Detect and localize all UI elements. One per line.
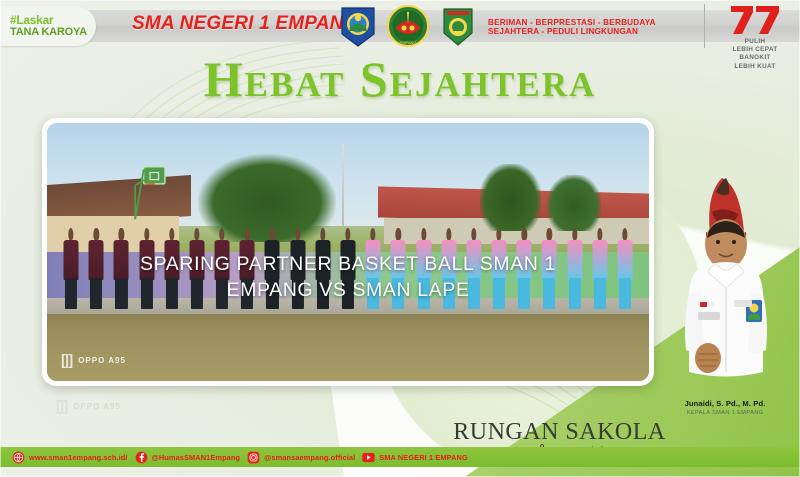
facebook-icon: [135, 451, 148, 464]
photo-foreground-ground: [47, 314, 649, 381]
camera-watermark-label: OPPO A95: [78, 356, 126, 365]
page-title: Hebat Sejahtera: [0, 50, 800, 108]
photo-caption-line-1: SPARING PARTNER BASKET BALL SMAN 1: [47, 252, 649, 278]
header-bar: #Laskar TANA KAROYA SMA NEGERI 1 EMPANG …: [0, 0, 800, 52]
header-logos: EMPANG: [336, 4, 480, 48]
footer-item-instagram[interactable]: @smansaempang.official: [247, 451, 355, 464]
motto-line-2: SEJAHTERA - PEDULI LINGKUNGAN: [488, 27, 656, 36]
camera-watermark-ghost-label: OPPO A95: [73, 402, 121, 411]
event-photo: SPARING PARTNER BASKET BALL SMAN 1 EMPAN…: [47, 123, 649, 381]
photo-tree-right-1: [480, 164, 540, 231]
camera-watermark-ghost: [|] OPPO A95: [56, 398, 121, 415]
youtube-icon: [362, 451, 375, 464]
laskar-badge: #Laskar TANA KAROYA: [0, 6, 96, 46]
footer-facebook-label: @HumasSMAN1Empang: [152, 453, 241, 462]
header-divider: [704, 4, 705, 48]
school-emblem-icon: EMPANG: [386, 4, 430, 48]
footer-item-website[interactable]: www.sman1empang.sch.id/: [12, 451, 128, 464]
rungan-sakola-title: RUNGAN SAKOLA: [452, 420, 667, 444]
footer-item-youtube[interactable]: SMA NEGERI 1 EMPANG: [362, 451, 468, 464]
seventy-seven-icon: [725, 2, 785, 36]
ntb-provincial-emblem-icon: [336, 4, 380, 48]
laskar-badge-line1: #Laskar: [10, 14, 96, 26]
oppo-logo-icon: [|]: [61, 352, 72, 369]
basketball-hoop-icon: [107, 164, 197, 221]
oppo-logo-ghost-icon: [|]: [56, 398, 67, 415]
sumbawa-regency-emblem-icon: [436, 4, 480, 48]
laskar-badge-line2: TANA KAROYA: [10, 27, 96, 38]
principal-portrait: Junaidi, S. Pd., M. Pd. KEPALA SMAN 1 EM…: [660, 172, 790, 422]
school-name: SMA NEGERI 1 EMPANG: [132, 13, 359, 35]
footer-bar: www.sman1empang.sch.id/ @HumasSMAN1Empan…: [0, 447, 800, 467]
footer-instagram-label: @smansaempang.official: [264, 453, 355, 462]
principal-role: KEPALA SMAN 1 EMPANG: [660, 410, 790, 416]
photo-caption: SPARING PARTNER BASKET BALL SMAN 1 EMPAN…: [47, 252, 649, 303]
globe-icon: [12, 451, 25, 464]
photo-caption-line-2: EMPANG VS SMAN LAPE: [47, 278, 649, 304]
photo-card: SPARING PARTNER BASKET BALL SMAN 1 EMPAN…: [42, 118, 654, 386]
motto-line-1: BERIMAN - BERPRESTASI - BERBUDAYA: [488, 18, 656, 27]
photo-flagpole: [342, 144, 344, 227]
camera-watermark: [|] OPPO A95: [61, 352, 126, 369]
svg-text:EMPANG: EMPANG: [399, 40, 416, 45]
footer-website-label: www.sman1empang.sch.id/: [29, 453, 128, 462]
instagram-icon: [247, 451, 260, 464]
photo-tree-right-2: [547, 175, 601, 232]
anniversary-line-1: PULIH: [733, 38, 778, 46]
footer-item-facebook[interactable]: @HumasSMAN1Empang: [135, 451, 241, 464]
school-motto: BERIMAN - BERPRESTASI - BERBUDAYA SEJAHT…: [488, 18, 656, 36]
principal-name: Junaidi, S. Pd., M. Pd.: [660, 399, 790, 408]
principal-figure-icon: [660, 172, 790, 422]
footer-youtube-label: SMA NEGERI 1 EMPANG: [379, 453, 468, 462]
poster-root: #Laskar TANA KAROYA SMA NEGERI 1 EMPANG …: [0, 0, 800, 477]
